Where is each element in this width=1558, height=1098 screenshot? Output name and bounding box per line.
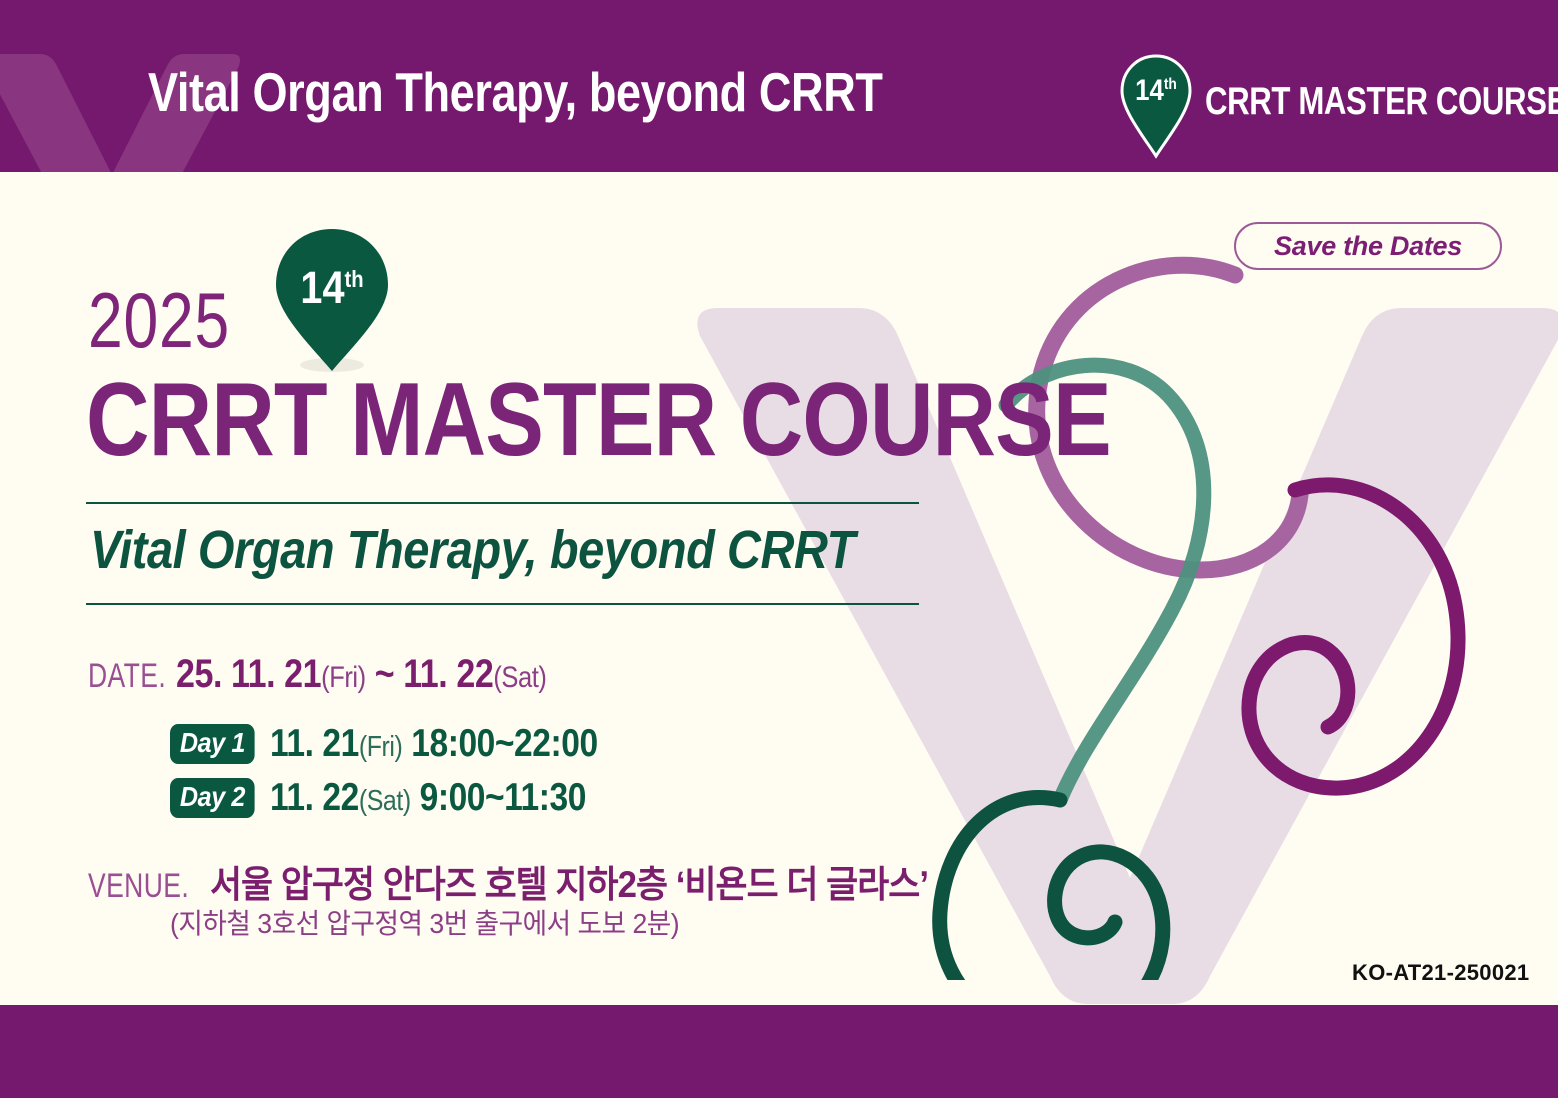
- date-part-2: 11. 22: [403, 652, 493, 696]
- decorative-swirls: [910, 240, 1530, 980]
- day-1-badge: Day 1: [170, 724, 255, 764]
- date-dow-1: (Fri): [321, 661, 366, 694]
- save-the-dates-label: Save the Dates: [1274, 231, 1462, 262]
- subtitle-rule-top: [86, 502, 919, 504]
- event-title: CRRT MASTER COURSE: [86, 368, 1111, 472]
- header-pin-number: 14th: [1122, 74, 1189, 108]
- edition-pin-number-suffix: th: [344, 266, 363, 292]
- venue-directions-note: (지하철 3호선 압구정역 3번 출구에서 도보 2분): [170, 902, 679, 942]
- edition-pin-number: 14th: [279, 262, 385, 314]
- day-1-time: 18:00~22:00: [411, 722, 597, 765]
- day-2-time: 9:00~11:30: [420, 776, 586, 819]
- date-row: DATE. 25. 11. 21(Fri) ~ 11. 22(Sat): [88, 652, 612, 697]
- day-2-badge: Day 2: [170, 778, 255, 818]
- venue-value: 서울 압구정 안다즈 호텔 지하2층 ‘비욘드 더 글라스’: [210, 854, 928, 908]
- header-pin-number-suffix: th: [1164, 76, 1177, 93]
- date-part-1: 25. 11. 21: [176, 652, 321, 696]
- header-pin-number-value: 14: [1135, 74, 1164, 107]
- header-title: Vital Organ Therapy, beyond CRRT: [148, 60, 882, 124]
- subtitle-rule-bottom: [86, 603, 919, 605]
- footer-bar: [0, 1005, 1558, 1098]
- day-2-dow: (Sat): [359, 785, 411, 817]
- event-year: 2025: [88, 275, 230, 366]
- day-1-dow: (Fri): [359, 731, 403, 763]
- day-1-row: Day 1 11. 21(Fri) 18:00~22:00: [170, 722, 651, 766]
- day-1-text: 11. 21(Fri) 18:00~22:00: [270, 722, 598, 766]
- document-code: KO-AT21-250021: [1352, 960, 1529, 986]
- day-1-date: 11. 21: [270, 722, 359, 765]
- header-badge-label: CRRT MASTER COURSE: [1205, 80, 1558, 124]
- header-bar: Vital Organ Therapy, beyond CRRT 14th CR…: [0, 0, 1558, 172]
- venue-label: VENUE.: [88, 867, 189, 906]
- edition-pin-number-value: 14: [300, 262, 344, 313]
- save-the-dates-badge: Save the Dates: [1234, 222, 1502, 270]
- day-2-text: 11. 22(Sat) 9:00~11:30: [270, 776, 586, 820]
- poster-canvas: Vital Organ Therapy, beyond CRRT 14th CR…: [0, 0, 1558, 1098]
- venue-row: VENUE. 서울 압구정 안다즈 호텔 지하2층 ‘비욘드 더 글라스’: [88, 854, 974, 908]
- event-subtitle: Vital Organ Therapy, beyond CRRT: [90, 519, 855, 581]
- header-course-badge: 14th CRRT MASTER COURSE: [1117, 52, 1537, 162]
- day-2-date: 11. 22: [270, 776, 359, 819]
- day-2-row: Day 2 11. 22(Sat) 9:00~11:30: [170, 776, 638, 820]
- date-value: 25. 11. 21(Fri) ~ 11. 22(Sat): [176, 652, 546, 697]
- date-dow-2: (Sat): [493, 661, 546, 694]
- date-separator: ~: [366, 652, 403, 696]
- date-label: DATE.: [88, 657, 166, 696]
